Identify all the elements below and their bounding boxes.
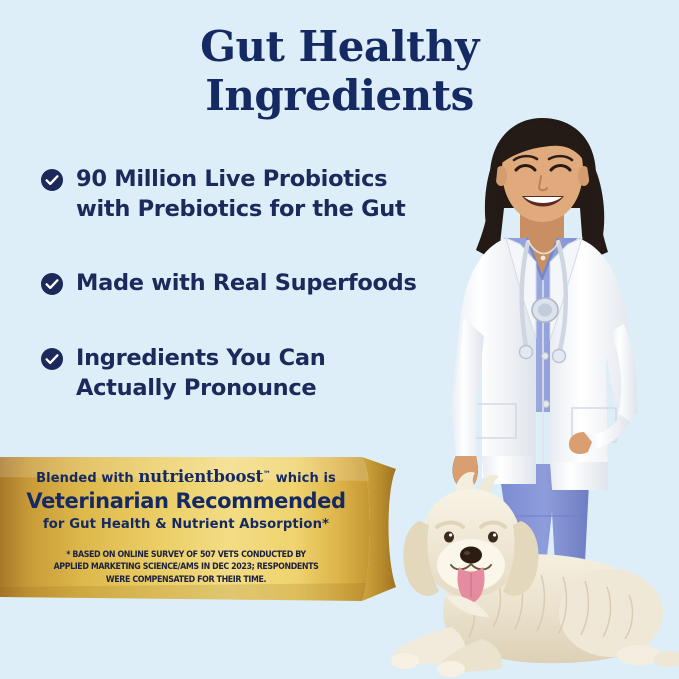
feature-bullet-list: 90 Million Live Probiotics with Prebioti… xyxy=(40,165,460,403)
banner-subline: for Gut Health & Nutrient Absorption* xyxy=(0,517,372,532)
banner-fine-print: * BASED ON ONLINE SURVEY OF 507 VETS CON… xyxy=(26,549,346,586)
banner-line-1-suffix: which is xyxy=(276,471,336,486)
page-title-line-1: Gut Healthy xyxy=(0,22,679,71)
list-item-line-1: Made with Real Superfoods xyxy=(76,270,417,296)
banner-text-block: Blended with nutrientboost™ which is Vet… xyxy=(0,455,372,603)
list-item: Ingredients You Can Actually Pronounce xyxy=(40,344,460,403)
veterinarian-recommended-banner: Blended with nutrientboost™ which is Vet… xyxy=(0,455,400,603)
dog-photo xyxy=(385,455,679,679)
banner-line-1: Blended with nutrientboost™ which is xyxy=(0,467,372,486)
list-item-label: Ingredients You Can Actually Pronounce xyxy=(76,344,325,403)
list-item-label: 90 Million Live Probiotics with Prebioti… xyxy=(76,165,405,224)
trademark-symbol: ™ xyxy=(263,470,271,479)
page-title: Gut Healthy Ingredients xyxy=(0,22,679,120)
list-item-line-1: Ingredients You Can xyxy=(76,345,325,371)
page-title-line-2: Ingredients xyxy=(0,71,679,120)
banner-line-1-prefix: Blended with xyxy=(36,471,134,486)
list-item-line-2: with Prebiotics for the Gut xyxy=(76,196,405,222)
check-circle-icon xyxy=(40,272,64,296)
list-item-line-2: Actually Pronounce xyxy=(76,375,316,401)
check-circle-icon xyxy=(40,168,64,192)
list-item-line-1: 90 Million Live Probiotics xyxy=(76,166,387,192)
list-item-label: Made with Real Superfoods xyxy=(76,269,417,299)
list-item: Made with Real Superfoods xyxy=(40,269,460,299)
check-circle-icon xyxy=(40,347,64,371)
list-item: 90 Million Live Probiotics with Prebioti… xyxy=(40,165,460,224)
banner-headline: Veterinarian Recommended xyxy=(0,489,372,513)
nutrientboost-wordmark: nutrientboost xyxy=(138,467,263,486)
product-feature-image: Gut Healthy Ingredients 90 Million Live … xyxy=(0,0,679,679)
